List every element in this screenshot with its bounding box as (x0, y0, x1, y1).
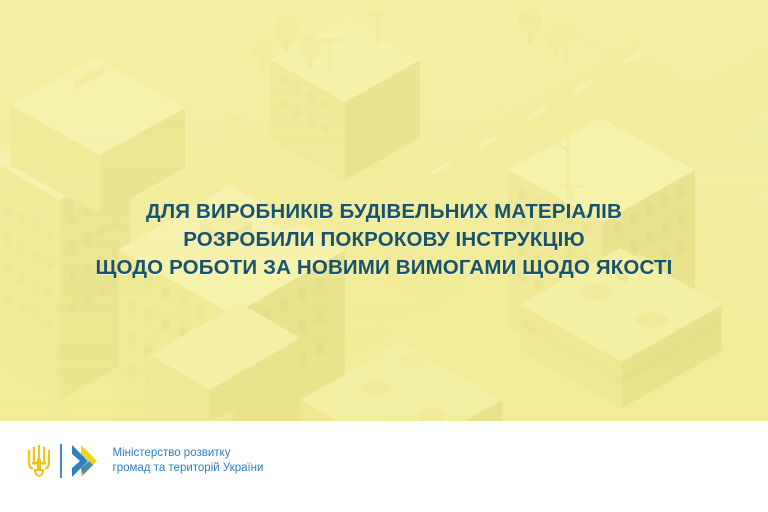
ministry-logo[interactable]: Міністерство розвитку громад та територі… (26, 443, 263, 479)
footer: Міністерство розвитку громад та територі… (0, 421, 768, 512)
double-chevron-right-icon (71, 443, 101, 479)
ministry-name-line-2: громад та територій України (113, 461, 264, 476)
headline-line-2: РОЗРОБИЛИ ПОКРОКОВУ ІНСТРУКЦІЮ (0, 226, 768, 254)
headline-line-3: ЩОДО РОБОТИ ЗА НОВИМИ ВИМОГАМИ ЩОДО ЯКОС… (0, 254, 768, 282)
ukraine-trident-icon (26, 444, 52, 478)
headline: ДЛЯ ВИРОБНИКІВ БУДІВЕЛЬНИХ МАТЕРІАЛІВ РО… (0, 198, 768, 282)
ministry-name-line-1: Міністерство розвитку (113, 446, 264, 461)
logo-divider (60, 444, 62, 478)
poster: ДЛЯ ВИРОБНИКІВ БУДІВЕЛЬНИХ МАТЕРІАЛІВ РО… (0, 0, 768, 512)
headline-line-1: ДЛЯ ВИРОБНИКІВ БУДІВЕЛЬНИХ МАТЕРІАЛІВ (0, 198, 768, 226)
hero-banner: ДЛЯ ВИРОБНИКІВ БУДІВЕЛЬНИХ МАТЕРІАЛІВ РО… (0, 0, 768, 421)
ministry-name: Міністерство розвитку громад та територі… (113, 446, 264, 476)
